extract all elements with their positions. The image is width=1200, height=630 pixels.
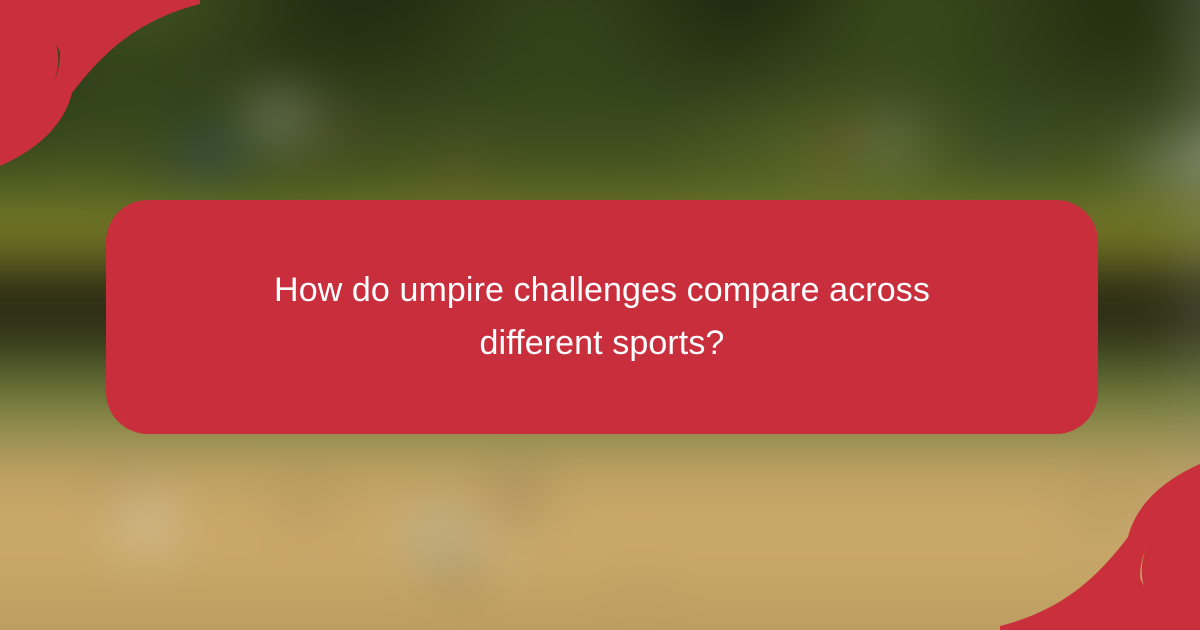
share-image-canvas: How do umpire challenges compare across … (0, 0, 1200, 630)
red-swoosh-bottom-right-icon (1000, 430, 1200, 630)
question-title: How do umpire challenges compare across … (232, 264, 972, 369)
question-card: How do umpire challenges compare across … (106, 200, 1098, 434)
red-swoosh-top-left-icon (0, 0, 200, 200)
